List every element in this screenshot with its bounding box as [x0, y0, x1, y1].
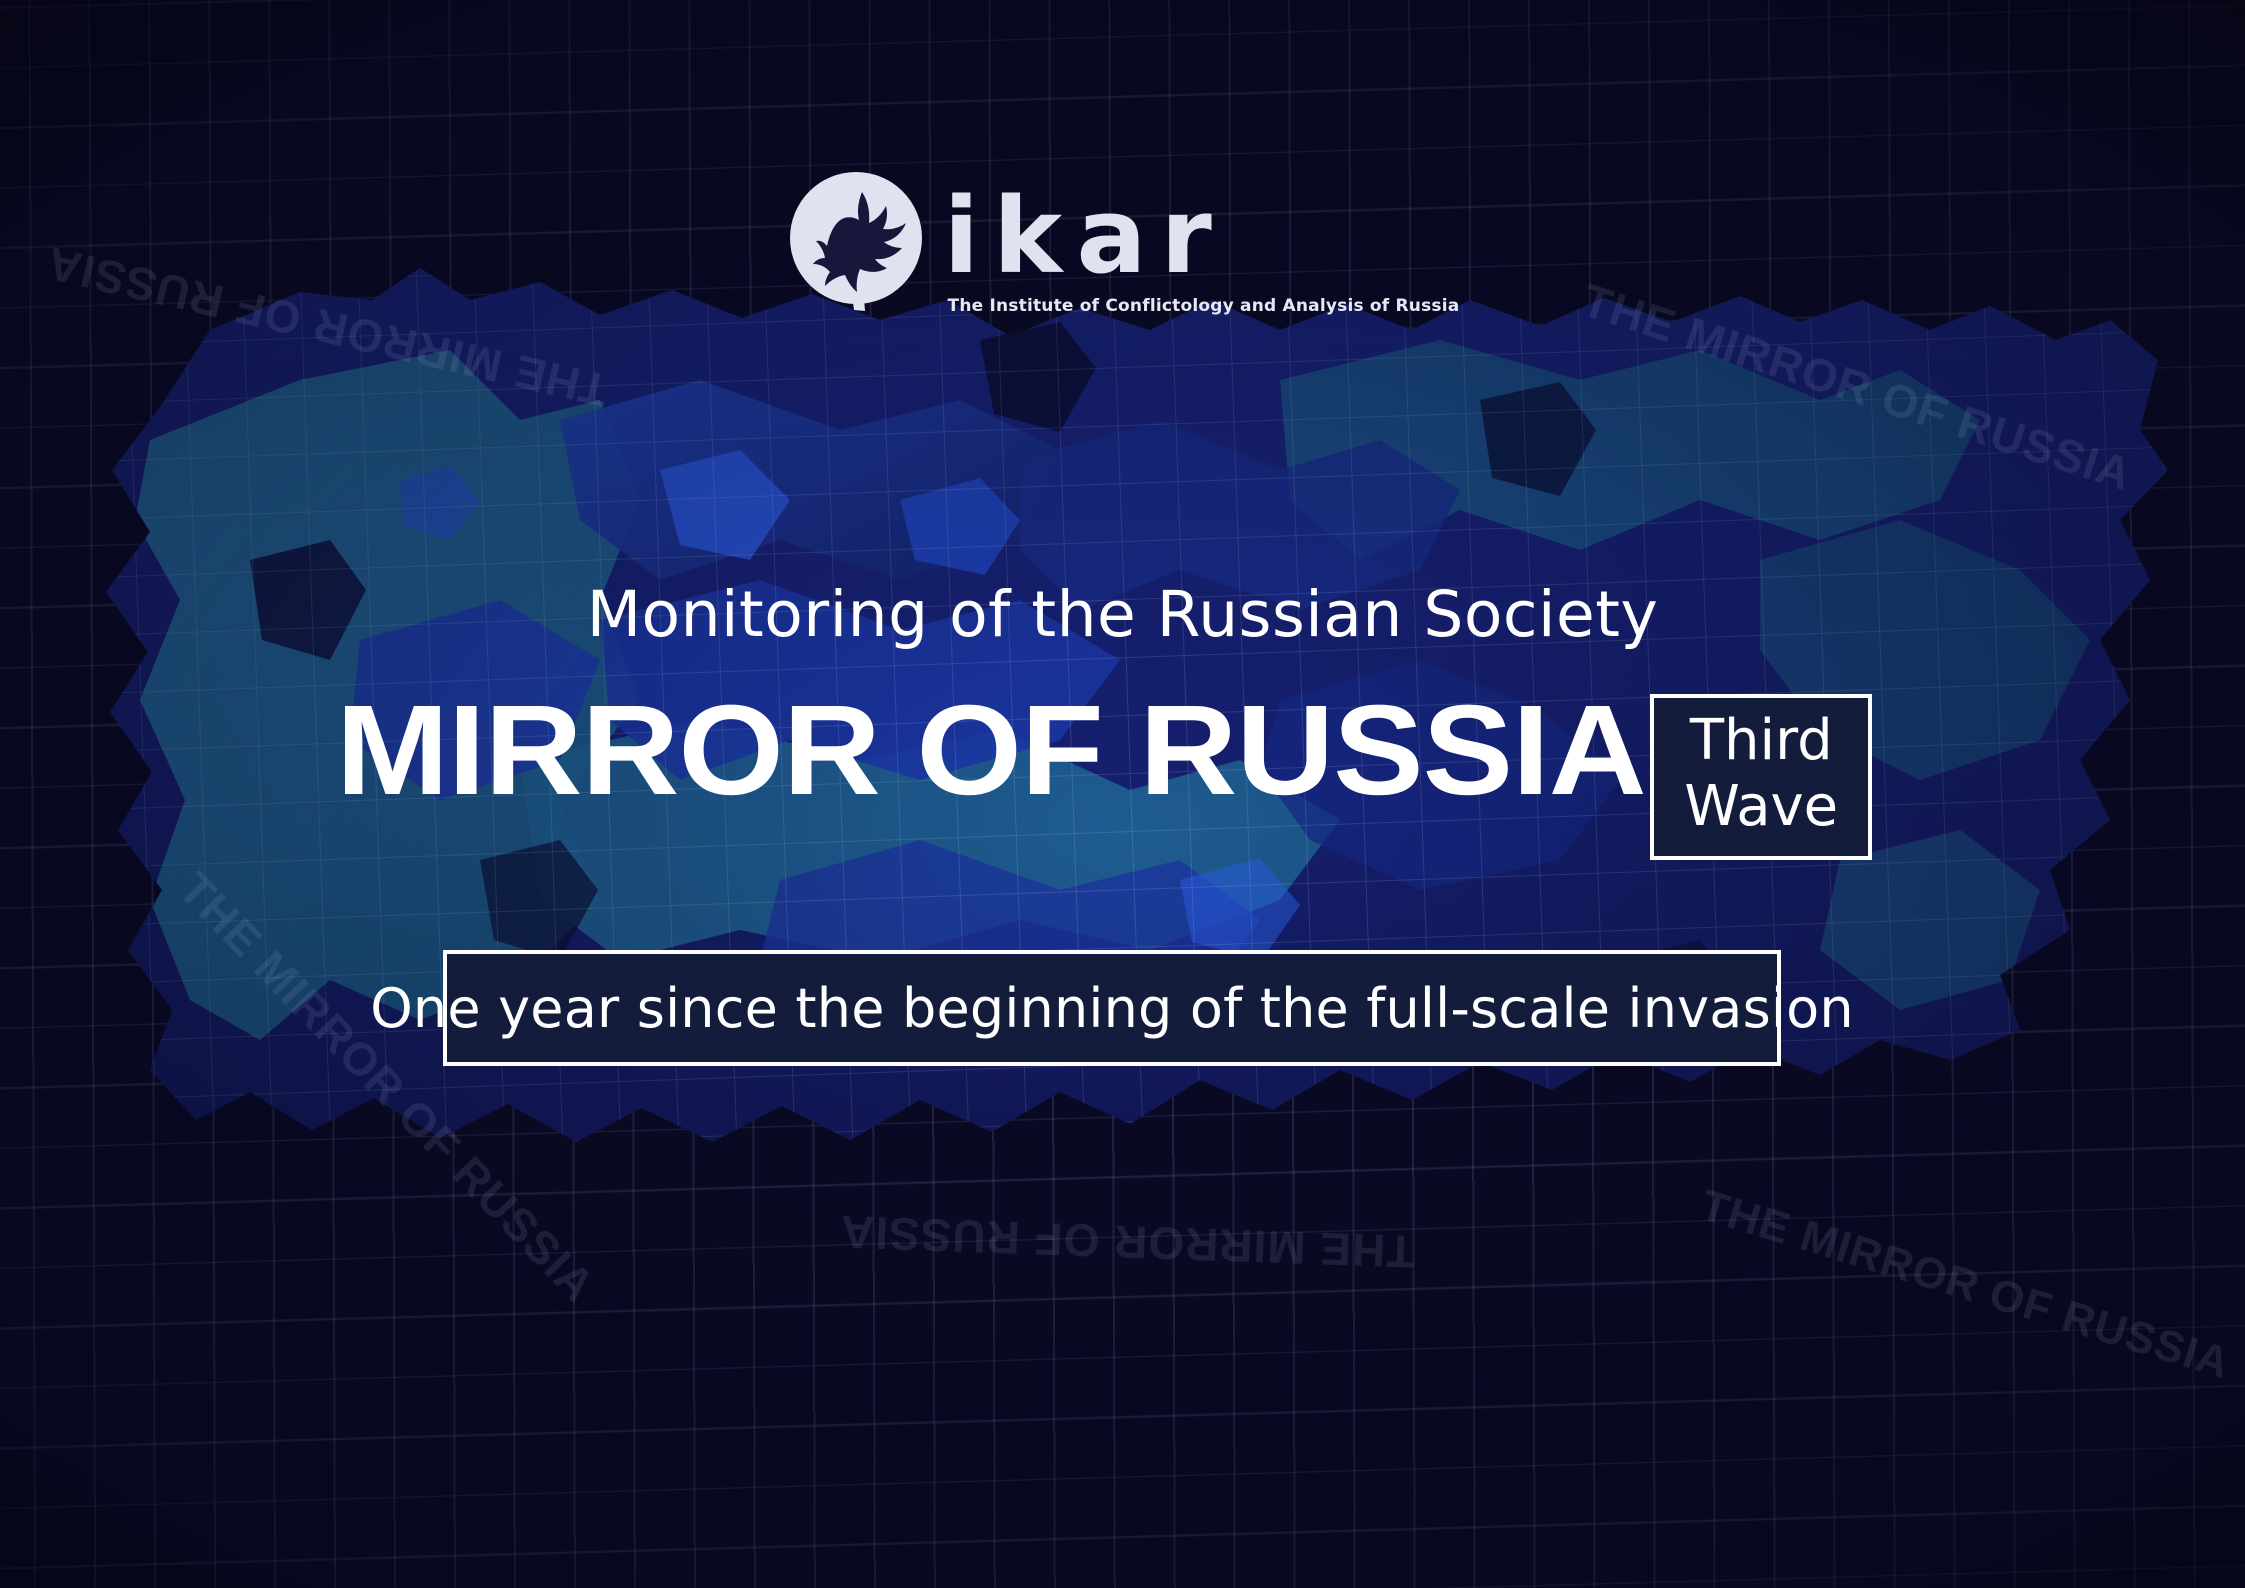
wave-badge-line-1: Third [1684, 708, 1838, 774]
subtitle-banner: One year since the beginning of the full… [443, 950, 1781, 1066]
poster-canvas: THE MIRROR OF RUSSIA THE MIRROR OF RUSSI… [0, 0, 2245, 1588]
wave-badge-line-2: Wave [1684, 774, 1838, 840]
brand-logo: ikar The Institute of Conflictology and … [0, 168, 2245, 316]
watermark-text: THE MIRROR OF RUSSIA [839, 1205, 1415, 1279]
dove-in-circle-icon [786, 168, 934, 316]
page-title: MIRROR OF RUSSIA [336, 686, 1646, 817]
watermark-text: THE MIRROR OF RUSSIA [168, 862, 606, 1313]
hero-title-row: MIRROR OF RUSSIA Third Wave [0, 686, 2245, 860]
brand-wordmark: ikar [944, 184, 1460, 288]
banner-text: One year since the beginning of the full… [370, 977, 1854, 1040]
hero-subtitle: Monitoring of the Russian Society [0, 578, 2245, 651]
watermark-text: THE MIRROR OF RUSSIA [1695, 1181, 2236, 1390]
brand-tagline: The Institute of Conflictology and Analy… [948, 296, 1460, 316]
wave-badge: Third Wave [1650, 694, 1872, 860]
